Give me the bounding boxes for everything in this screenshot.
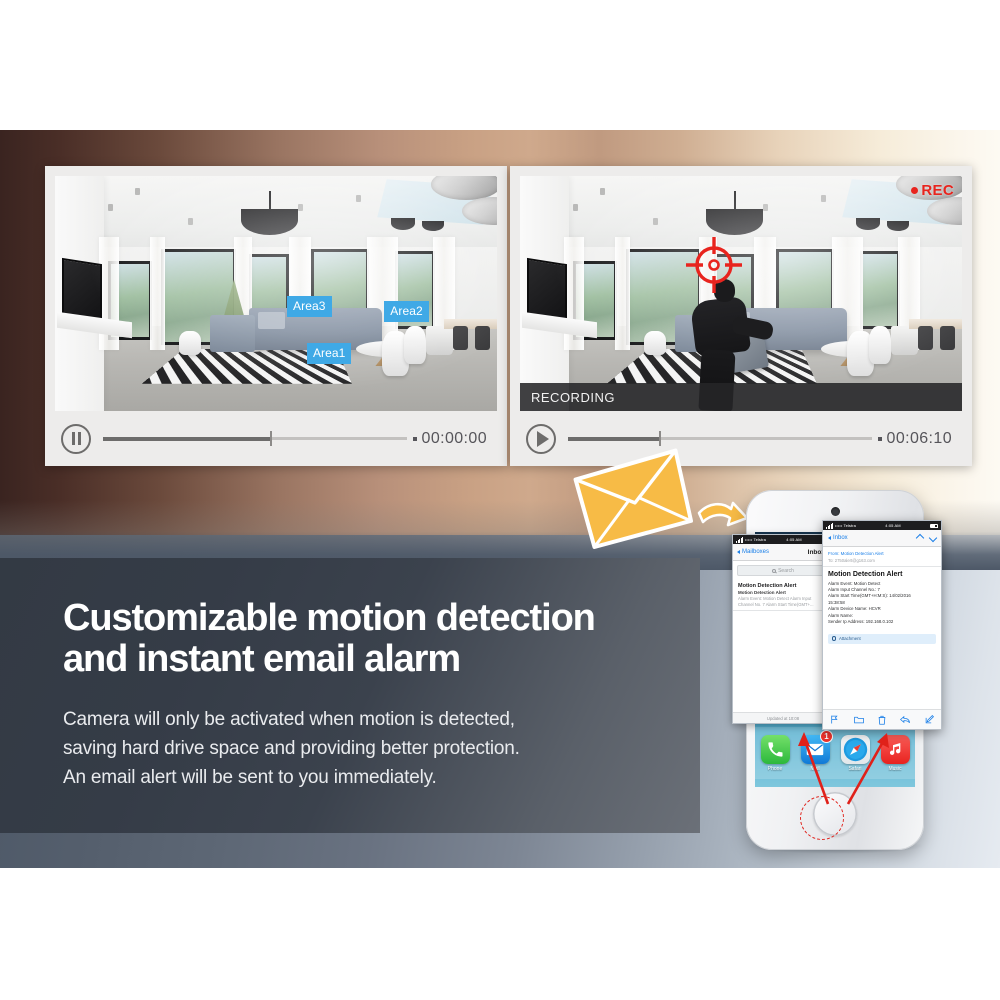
play-button[interactable] [526,424,556,454]
recording-controls[interactable]: 00:06:10 [520,411,962,466]
front-camera-icon [831,507,840,516]
stop-square-icon-right [878,437,882,441]
live-view-screen: Area3 Area2 Area1 [55,176,497,411]
mail-list-navbar[interactable]: Mailboxes Inbox [733,544,833,561]
chevron-left-icon-detail [828,536,831,540]
recording-status-text: RECORDING [531,390,615,405]
battery-icon-detail [930,524,938,528]
paperclip-icon [832,636,836,641]
inbox-back-label: Inbox [833,535,848,541]
subcopy: Camera will only be activated when motio… [63,706,678,793]
progress-track-right[interactable] [568,432,872,446]
ios-status-bar-list: ••••• Telstra 4:05 AM [733,535,833,544]
live-view-player[interactable]: Area3 Area2 Area1 00:00:00 [45,166,507,466]
timestamp-left-value: 00:00:00 [422,430,487,448]
subcopy-line-3: An email alert will be sent to you immed… [63,764,678,793]
area-tag-1[interactable]: Area1 [307,343,352,364]
timestamp-right-value: 00:06:10 [887,430,952,448]
next-message-icon[interactable] [929,534,937,542]
mail-detail-header: From: Motion Detection Alert To: 2750ale… [823,547,941,567]
rec-indicator: REC [911,182,954,199]
top-white-band [0,0,1000,130]
search-icon [772,569,776,573]
smartphone-mockup: Phone 1 Mail [746,490,924,850]
inbox-title: Inbox [733,549,833,556]
mail-detail-navbar[interactable]: Inbox [823,530,941,547]
timestamp-right: 00:06:10 [878,430,962,448]
headline-line-1: Customizable motion detection [63,598,678,639]
carrier-label-detail: ••••• Telstra [835,523,856,528]
compose-icon[interactable] [925,715,934,724]
mail-preview: Alarm Event: Motion Detect Alarm Input C… [738,596,828,607]
clock-label-detail: 4:05 AM [885,523,900,528]
subcopy-line-1: Camera will only be activated when motio… [63,706,678,735]
target-crosshair-icon [684,235,744,295]
mail-to-line: To: 2750alert@g163.com [828,558,936,563]
rec-label: REC [921,182,954,199]
hint-arrows [786,728,906,808]
flag-icon[interactable] [830,715,839,724]
mail-subject: Motion Detection Alert [738,590,828,595]
clock-label-list: 4:05 AM [786,537,801,542]
area-tag-2[interactable]: Area2 [384,301,429,322]
trash-icon[interactable] [878,715,886,725]
rec-dot-icon [911,187,918,194]
mail-inbox-screenshot[interactable]: ••••• Telstra 4:05 AM Mailboxes Inbox Se… [732,534,834,724]
mail-detail-body: Alarm Event: Motion DetectAlarm Input Ch… [823,580,941,630]
promo-stage: Area3 Area2 Area1 00:00:00 [0,0,1000,1000]
progress-track-left[interactable] [103,432,407,446]
carrier-label-list: ••••• Telstra [745,537,766,542]
previous-message-icon[interactable] [916,534,924,542]
mail-attachment-label: Attachment [839,636,861,641]
living-room-scene [55,176,497,411]
mail-list-footer: Updated at 10:08 [733,712,833,723]
mail-from-line: From: Motion Detection Alert [828,551,936,556]
signal-bars-icon-detail [826,523,833,529]
signal-bars-icon [736,537,743,543]
subcopy-line-2: saving hard drive space and providing be… [63,735,678,764]
mail-body-line-6: Sender Ip Address: 192.168.0.102 [828,619,936,625]
recording-player[interactable]: REC RECORDING 00:06:10 [510,166,972,466]
message-panel: Customizable motion detection and instan… [0,558,700,833]
recording-status-banner: RECORDING [520,383,962,411]
ios-status-bar-detail: ••••• Telstra 4:05 AM [823,521,941,530]
mail-search-input[interactable]: Search [737,565,829,576]
reply-icon[interactable] [900,715,910,724]
live-view-controls[interactable]: 00:00:00 [55,411,497,466]
mail-detail-screenshot[interactable]: ••••• Telstra 4:05 AM Inbox From: Motion… [822,520,942,730]
mail-search-placeholder: Search [778,568,794,574]
pause-icon [72,432,81,445]
inbox-back-button[interactable]: Inbox [828,535,848,541]
headline: Customizable motion detection and instan… [63,598,678,680]
folder-icon[interactable] [854,715,864,724]
recording-screen: REC RECORDING [520,176,962,411]
pause-button[interactable] [61,424,91,454]
stop-square-icon [413,437,417,441]
play-icon [537,431,549,447]
mail-list-item[interactable]: Motion Detection Alert Motion Detection … [733,580,833,611]
mail-detail-toolbar[interactable] [823,709,941,729]
headline-line-2: and instant email alarm [63,639,678,680]
area-tag-3[interactable]: Area3 [287,296,332,317]
bottom-white-band [0,868,1000,1000]
mail-detail-subject: Motion Detection Alert [823,567,941,580]
mail-sender: Motion Detection Alert [738,583,828,589]
timestamp-left: 00:00:00 [413,430,497,448]
mail-attachment[interactable]: Attachment [828,634,936,644]
